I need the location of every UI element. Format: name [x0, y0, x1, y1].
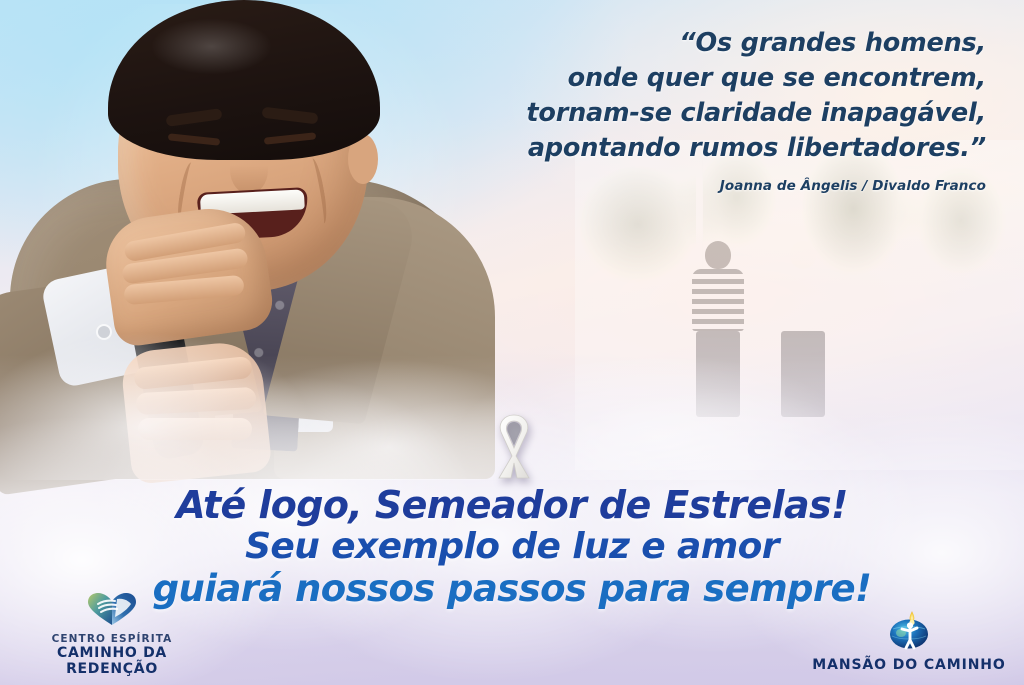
- memorial-poster: “Os grandes homens, onde quer que se enc…: [0, 0, 1024, 685]
- white-ribbon-icon: [484, 408, 544, 484]
- quote-line-3: tornam-se claridade inapagável,: [346, 96, 986, 131]
- quote-line-1: “Os grandes homens,: [346, 26, 986, 61]
- quote-block: “Os grandes homens, onde quer que se enc…: [346, 26, 986, 194]
- logo-right-line-1: MANSÃO DO CAMINHO: [804, 657, 1014, 673]
- logo-left-line-1: CENTRO ESPÍRITA: [12, 633, 212, 645]
- logo-left-line-2: CAMINHO DA REDENÇÃO: [12, 645, 212, 677]
- logo-centro-espirita[interactable]: CENTRO ESPÍRITA CAMINHO DA REDENÇÃO: [12, 592, 212, 677]
- globe-figure-torch-icon: [804, 610, 1014, 654]
- portrait-nose: [230, 146, 268, 194]
- scene-railing: [844, 315, 961, 358]
- portrait-cuff-button: [98, 326, 110, 338]
- quote-attribution: Joanna de Ângelis / Divaldo Franco: [346, 178, 986, 194]
- portrait-finger: [138, 418, 252, 440]
- logo-mansao-do-caminho[interactable]: MANSÃO DO CAMINHO: [804, 610, 1014, 673]
- tribute-line-2: Seu exemplo de luz e amor: [0, 526, 1024, 568]
- scene-person-white-shirt: [777, 241, 829, 417]
- tribute-line-1: Até logo, Semeador de Estrelas!: [0, 484, 1024, 526]
- quote-line-2: onde quer que se encontrem,: [346, 61, 986, 96]
- scene-person-striped-shirt: [692, 241, 744, 417]
- heart-hands-icon: [12, 592, 212, 630]
- quote-line-4: apontando rumos libertadores.”: [346, 131, 986, 166]
